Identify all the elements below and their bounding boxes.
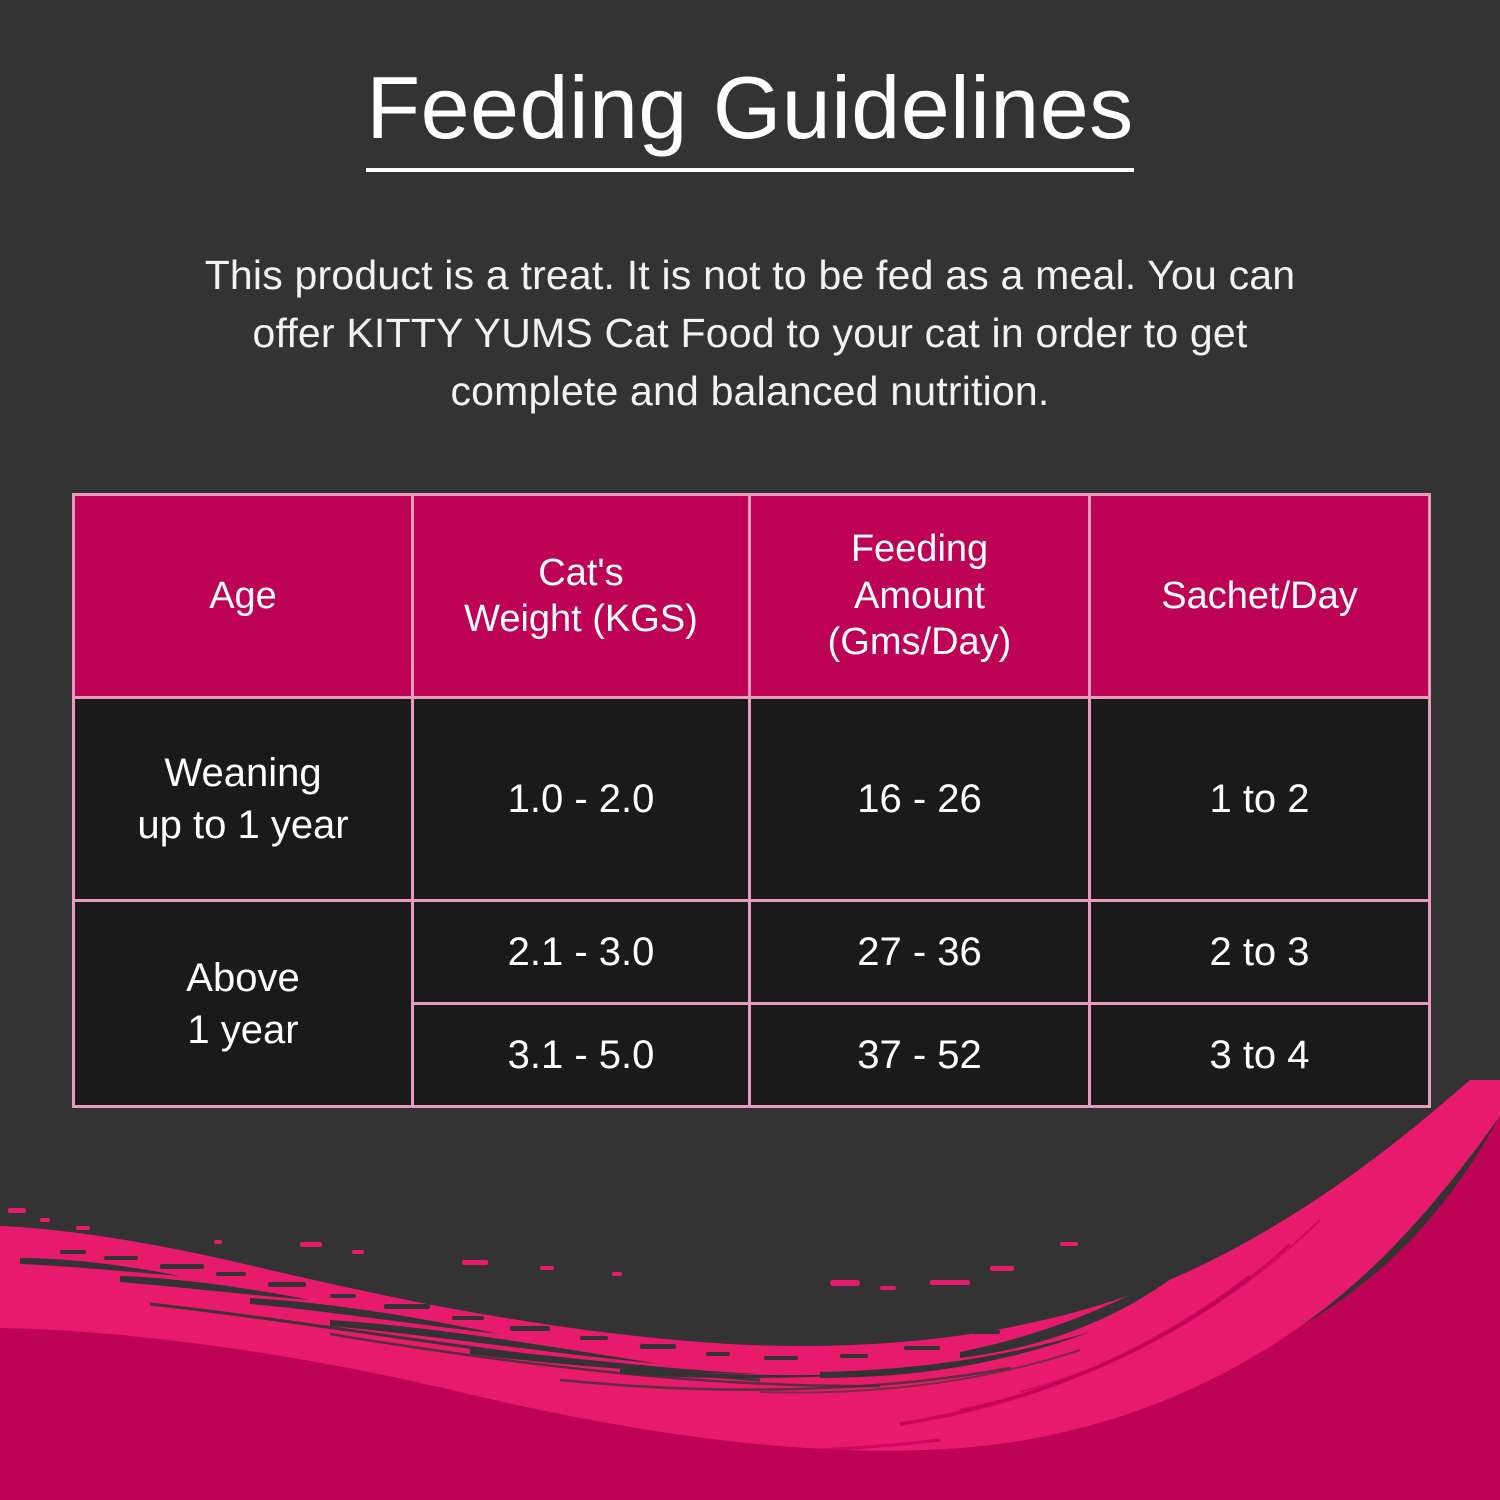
brush-deep-layer	[0, 1116, 1500, 1500]
cell-sachet-row2: 2 to 3	[1090, 901, 1430, 1004]
cell-amount-row3: 37 - 52	[750, 1004, 1090, 1107]
brush-flecks-bright	[8, 1208, 1078, 1290]
column-header-weight: Cat's Weight (KGS)	[413, 495, 750, 698]
column-header-age-label: Age	[209, 575, 277, 617]
brush-speckles-dark	[20, 1250, 1200, 1378]
cell-age-weaning-line1: Weaning	[75, 747, 411, 799]
cell-age-above: Above 1 year	[74, 901, 413, 1107]
brush-streaks-crimson	[60, 1220, 1320, 1456]
brush-stroke-decoration	[0, 1080, 1500, 1500]
page-title-container: Feeding Guidelines	[0, 62, 1500, 172]
cell-age-weaning: Weaning up to 1 year	[74, 698, 413, 901]
cell-weight-row1: 1.0 - 2.0	[413, 698, 750, 901]
cell-amount-row1: 16 - 26	[750, 698, 1090, 901]
column-header-sachet-label: Sachet/Day	[1161, 575, 1357, 617]
column-header-weight-line1: Cat's	[414, 550, 748, 596]
cell-sachet-row3: 3 to 4	[1090, 1004, 1430, 1107]
table-row: Weaning up to 1 year 1.0 - 2.0 16 - 26 1…	[74, 698, 1430, 901]
intro-paragraph: This product is a treat. It is not to be…	[170, 246, 1330, 421]
column-header-amount: Feeding Amount (Gms/Day)	[750, 495, 1090, 698]
cell-sachet-row1: 1 to 2	[1090, 698, 1430, 901]
column-header-sachet: Sachet/Day	[1090, 495, 1430, 698]
cell-weight-row3: 3.1 - 5.0	[413, 1004, 750, 1107]
column-header-age: Age	[74, 495, 413, 698]
cell-age-above-line1: Above	[75, 952, 411, 1004]
cell-weight-row2: 2.1 - 3.0	[413, 901, 750, 1004]
table-header-row: Age Cat's Weight (KGS) Feeding Amount (G…	[74, 495, 1430, 698]
brush-bright-layer	[0, 1080, 1500, 1451]
cell-age-above-line2: 1 year	[75, 1004, 411, 1056]
column-header-amount-line1: Feeding	[751, 526, 1088, 572]
column-header-weight-line2: Weight (KGS)	[414, 596, 748, 642]
column-header-amount-line2: Amount	[751, 573, 1088, 619]
table-row: Above 1 year 2.1 - 3.0 27 - 36 2 to 3	[74, 901, 1430, 1004]
column-header-amount-line3: (Gms/Day)	[751, 619, 1088, 665]
feeding-guidelines-table: Age Cat's Weight (KGS) Feeding Amount (G…	[72, 493, 1431, 1108]
cell-amount-row2: 27 - 36	[750, 901, 1090, 1004]
cell-age-weaning-line2: up to 1 year	[75, 799, 411, 851]
feeding-guidelines-page: Feeding Guidelines This product is a tre…	[0, 0, 1500, 1500]
brush-streaks-dark	[150, 1304, 1080, 1393]
page-title: Feeding Guidelines	[366, 62, 1133, 172]
